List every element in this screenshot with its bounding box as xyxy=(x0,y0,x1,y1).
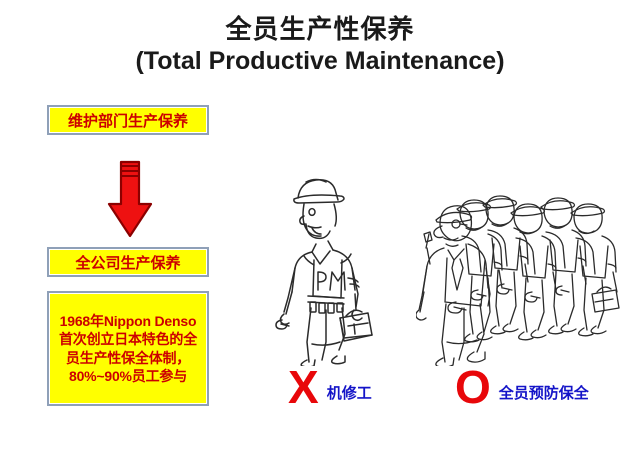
title-english: (Total Productive Maintenance) xyxy=(0,46,640,77)
comparison-item-positive: O 全员预防保全 xyxy=(455,366,589,408)
flow-box-company-pm: 全公司生产保养 xyxy=(47,247,209,277)
flow-box-department-pm: 维护部门生产保养 xyxy=(47,105,209,135)
flow-box-company-pm-label: 全公司生产保养 xyxy=(75,252,180,273)
flow-box-nippon-denso-note: 1968年Nippon Denso首次创立日本特色的全员生产性保全体制，80%~… xyxy=(47,291,209,406)
flow-box-nippon-denso-note-label: 1968年Nippon Denso首次创立日本特色的全员生产性保全体制，80%~… xyxy=(54,312,202,386)
cross-mark-icon: X xyxy=(288,366,319,408)
crowd-of-workers-illustration xyxy=(416,186,624,366)
title-chinese: 全员生产性保养 xyxy=(0,14,640,46)
comparison-label-positive: 全员预防保全 xyxy=(491,382,589,408)
comparison-item-negative: X 机修工 xyxy=(288,366,372,408)
flow-box-department-pm-label: 维护部门生产保养 xyxy=(68,110,188,131)
circle-mark-icon: O xyxy=(455,366,491,408)
single-maintenance-worker-illustration xyxy=(268,168,380,366)
arrow-down-icon xyxy=(104,158,156,240)
comparison-label-negative: 机修工 xyxy=(319,382,372,408)
page-title: 全员生产性保养 (Total Productive Maintenance) xyxy=(0,14,640,76)
